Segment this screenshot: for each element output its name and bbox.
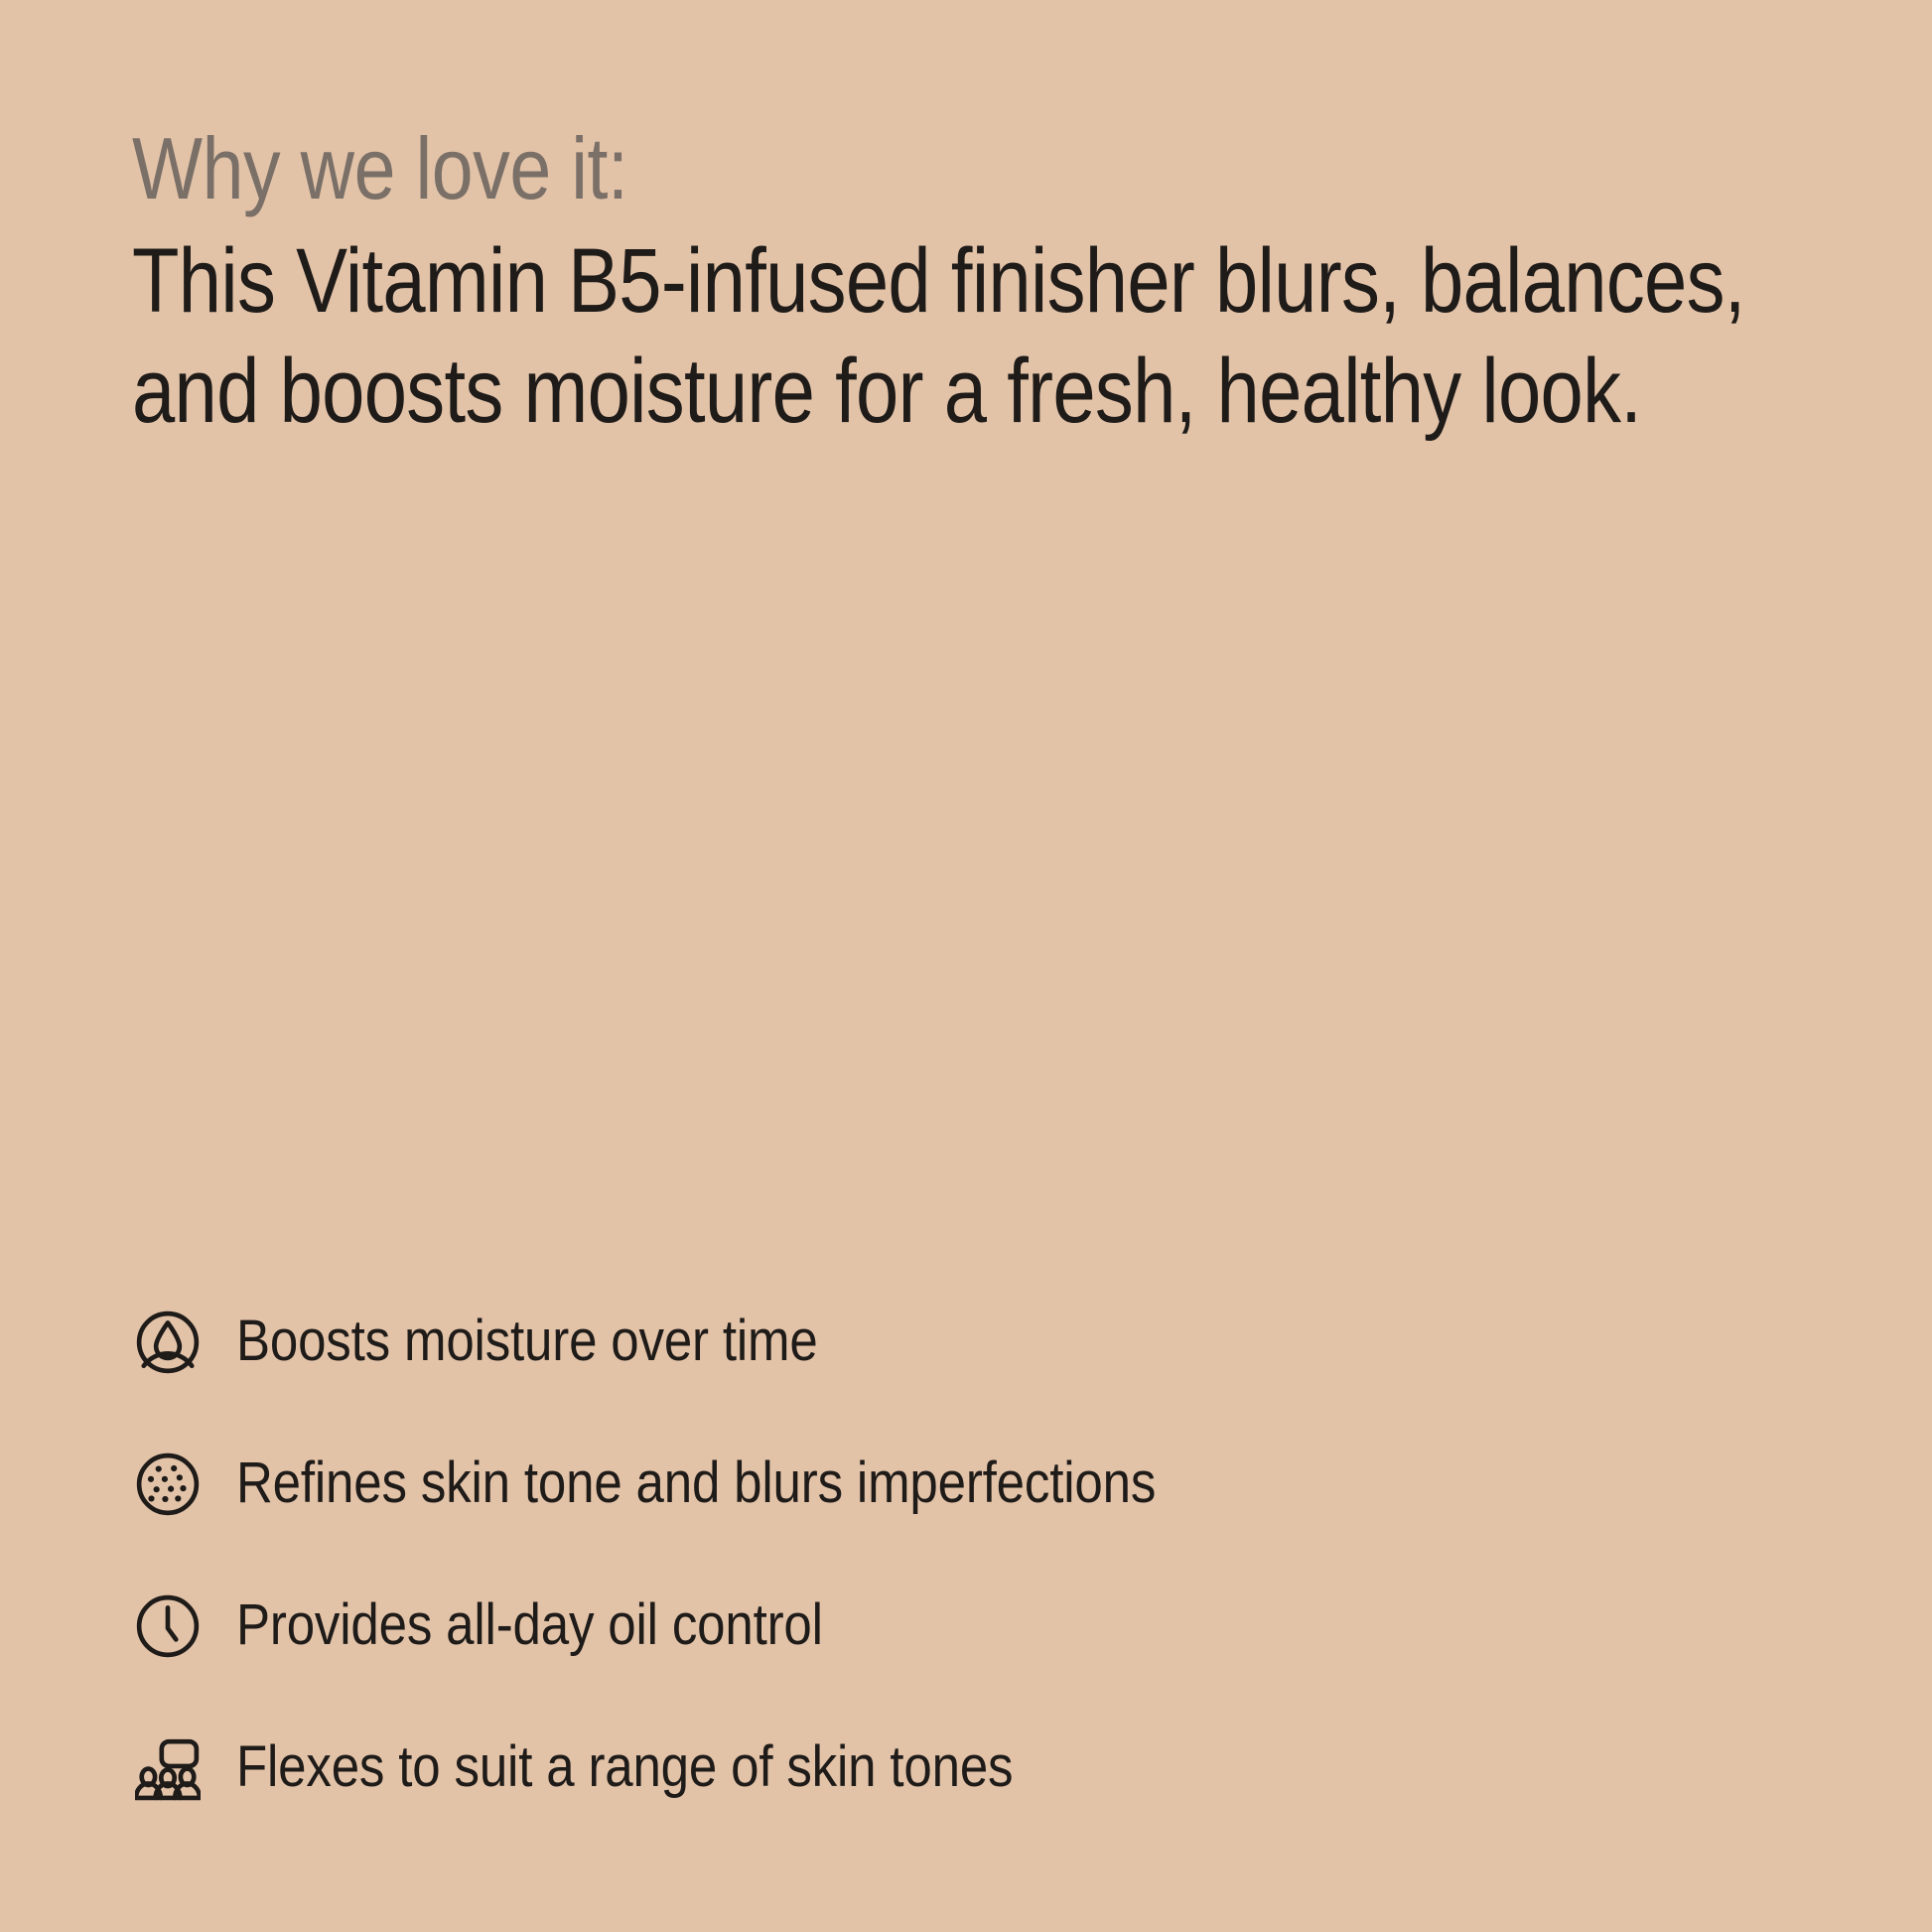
headline-description: This Vitamin B5-infused finisher blurs, … [132, 226, 1861, 448]
benefit-label: Flexes to suit a range of skin tones [236, 1734, 1013, 1801]
list-item: Boosts moisture over time [132, 1271, 1840, 1413]
benefit-label: Refines skin tone and blurs imperfection… [236, 1450, 1156, 1517]
benefit-label: Boosts moisture over time [236, 1309, 818, 1375]
benefit-label: Provides all-day oil control [236, 1592, 823, 1659]
list-item: Provides all-day oil control [132, 1555, 1840, 1697]
clock-icon [132, 1590, 204, 1662]
benefits-list: Boosts moisture over time [132, 1271, 1840, 1839]
water-drop-circle-icon [132, 1307, 204, 1378]
dotted-circle-texture-icon [132, 1449, 204, 1520]
list-item: Flexes to suit a range of skin tones [132, 1697, 1840, 1839]
headline-block: Why we love it: This Vitamin B5-infused … [132, 117, 1820, 447]
list-item: Refines skin tone and blurs imperfection… [132, 1413, 1840, 1555]
product-benefits-card: Why we love it: This Vitamin B5-infused … [0, 0, 1932, 1932]
eyebrow-label: Why we love it: [132, 117, 1576, 220]
people-group-icon [132, 1732, 204, 1804]
